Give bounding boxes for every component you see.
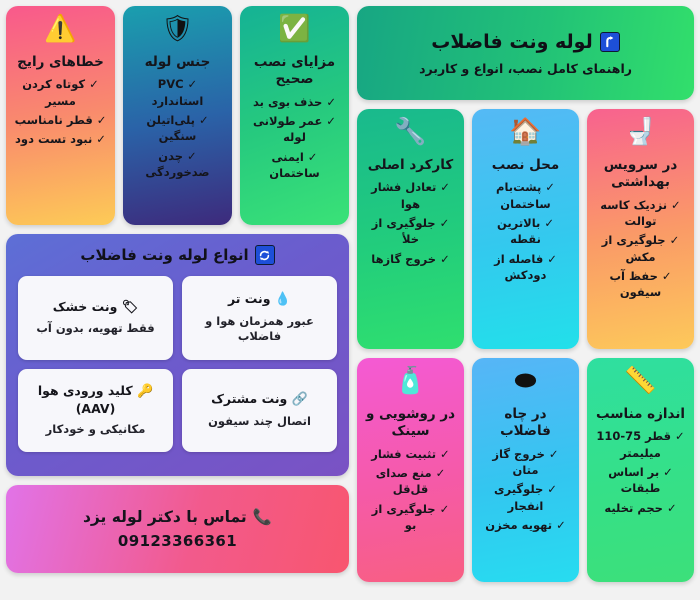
list-item: ✓ حذف بوی بد: [246, 94, 343, 110]
dry-vent-icon: 🏷: [122, 300, 139, 315]
list-item: ✓ پشت‌بام ساختمان: [478, 179, 573, 212]
list-item: ✓ جلوگیری انفجار: [478, 481, 573, 514]
contact-phone[interactable]: 09123366361: [118, 532, 237, 550]
list-item: ✓ جلوگیری از مکش: [593, 232, 688, 265]
list-item: ✓ جلوگیری از بو: [363, 501, 458, 534]
shield-icon: 🛡: [129, 16, 226, 46]
card-common-errors[interactable]: ⚠️ خطاهای رایج ✓ کوتاه کردن مسیر ✓ قطر ن…: [6, 6, 115, 225]
type-card-common-vent[interactable]: 🔗 ونت مشترک اتصال چند سیفون: [182, 369, 337, 453]
water-drop-icon: 💧: [275, 292, 291, 307]
contact-banner[interactable]: 📞 تماس با دکتر لوله یزد 09123366361: [6, 485, 349, 573]
card-list: ✓ تثبیت فشار ✓ منع صدای قل‌قل ✓ جلوگیری …: [363, 446, 458, 534]
card-list: ✓ PVC استاندارد ✓ پلی‌اتیلن سنگین ✓ چدن …: [129, 76, 226, 180]
card-title: کارکرد اصلی: [363, 157, 458, 174]
link-chain-icon: 🔗: [292, 392, 308, 407]
bottle-icon: 🧴: [363, 368, 458, 398]
list-item: ✓ منع صدای قل‌قل: [363, 465, 458, 498]
type-desc: اتصال چند سیفون: [188, 414, 331, 430]
card-title: محل نصب: [478, 157, 573, 174]
vent-types-title: انواع لوله ونت فاضلاب: [18, 245, 337, 265]
wrench-icon: 🔧: [363, 119, 458, 149]
left-column: ✅ مزایای نصب صحیح ✓ حذف بوی بد ✓ عمر طول…: [6, 6, 349, 594]
card-list: ✓ نزدیک کاسه توالت ✓ جلوگیری از مکش ✓ حف…: [593, 197, 688, 301]
card-list: ✓ قطر 75-110 میلیمتر ✓ بر اساس طبقات ✓ ح…: [593, 428, 688, 516]
house-icon: 🏠: [478, 119, 573, 149]
manhole-icon: ⬬: [478, 368, 573, 398]
page-header: لوله ونت فاضلاب راهنمای کامل نصب، انواع …: [357, 6, 694, 100]
list-item: ✓ نبود تست دود: [12, 131, 109, 147]
list-item: ✓ خروج گازها: [363, 251, 458, 267]
card-title: مزایای نصب صحیح: [246, 54, 343, 89]
card-title: در روشویی و سینک: [363, 406, 458, 441]
card-title: در چاه فاضلاب: [478, 406, 573, 441]
toilet-icon: 🚽: [593, 119, 688, 149]
card-list: ✓ پشت‌بام ساختمان ✓ بالاترین نقطه ✓ فاصل…: [478, 179, 573, 283]
card-title: خطاهای رایج: [12, 54, 109, 71]
page-subtitle: راهنمای کامل نصب، انواع و کاربرد: [419, 61, 632, 76]
type-name: 🔗 ونت مشترک: [188, 391, 331, 409]
card-list: ✓ خروج گاز متان ✓ جلوگیری انفجار ✓ تهویه…: [478, 446, 573, 534]
type-name: 🏷 ونت خشک: [24, 299, 167, 317]
list-item: ✓ قطر 75-110 میلیمتر: [593, 428, 688, 461]
type-name-text: ونت تر: [228, 291, 271, 306]
card-in-sewage-well[interactable]: ⬬ در چاه فاضلاب ✓ خروج گاز متان ✓ جلوگیر…: [472, 358, 579, 582]
type-card-dry-vent[interactable]: 🏷 ونت خشک فقط تهویه، بدون آب: [18, 276, 173, 360]
infographic-root: لوله ونت فاضلاب راهنمای کامل نصب، انواع …: [0, 0, 700, 600]
card-list: ✓ حذف بوی بد ✓ عمر طولانی لوله ✓ ایمنی س…: [246, 94, 343, 182]
list-item: ✓ عمر طولانی لوله: [246, 113, 343, 146]
list-item: ✓ PVC استاندارد: [129, 76, 226, 109]
type-desc: مکانیکی و خودکار: [24, 422, 167, 438]
list-item: ✓ کوتاه کردن مسیر: [12, 76, 109, 109]
card-list: ✓ تعادل فشار هوا ✓ جلوگیری از خلأ ✓ خروج…: [363, 179, 458, 267]
warning-triangle-icon: ⚠️: [12, 16, 109, 46]
ruler-icon: 📏: [593, 368, 688, 398]
card-install-location[interactable]: 🏠 محل نصب ✓ پشت‌بام ساختمان ✓ بالاترین ن…: [472, 109, 579, 349]
contact-title: 📞 تماس با دکتر لوله یزد: [83, 508, 272, 526]
right-column: لوله ونت فاضلاب راهنمای کامل نصب، انواع …: [357, 6, 694, 594]
type-card-aav[interactable]: 🔑 کلید ورودی هوا (AAV) مکانیکی و خودکار: [18, 369, 173, 453]
card-title: جنس لوله: [129, 54, 226, 71]
list-item: ✓ قطر نامناسب: [12, 112, 109, 128]
list-item: ✓ حفظ آب سیفون: [593, 268, 688, 301]
list-item: ✓ تعادل فشار هوا: [363, 179, 458, 212]
list-item: ✓ چدن ضدخوردگی: [129, 148, 226, 181]
page-title-text: لوله ونت فاضلاب: [431, 31, 592, 53]
card-proper-size[interactable]: 📏 اندازه مناسب ✓ قطر 75-110 میلیمتر ✓ بر…: [587, 358, 694, 582]
list-item: ✓ حجم تخلیه: [593, 500, 688, 516]
pipe-bend-icon: [600, 32, 620, 52]
vent-types-grid: 💧 ونت تر عبور همزمان هوا و فاضلاب 🏷 ونت …: [18, 276, 337, 452]
card-title: در سرویس بهداشتی: [593, 157, 688, 192]
card-in-bathroom[interactable]: 🚽 در سرویس بهداشتی ✓ نزدیک کاسه توالت ✓ …: [587, 109, 694, 349]
contact-title-text: تماس با دکتر لوله یزد: [83, 508, 247, 526]
type-name-text: ونت مشترک: [211, 391, 287, 406]
list-item: ✓ بالاترین نقطه: [478, 215, 573, 248]
telephone-receiver-icon: 📞: [253, 508, 272, 526]
vent-types-title-text: انواع لوله ونت فاضلاب: [80, 246, 248, 264]
list-item: ✓ نزدیک کاسه توالت: [593, 197, 688, 230]
bottom-card-row: 📏 اندازه مناسب ✓ قطر 75-110 میلیمتر ✓ بر…: [357, 358, 694, 582]
card-in-sink-washbasin[interactable]: 🧴 در روشویی و سینک ✓ تثبیت فشار ✓ منع صد…: [357, 358, 464, 582]
type-card-wet-vent[interactable]: 💧 ونت تر عبور همزمان هوا و فاضلاب: [182, 276, 337, 360]
mid-card-row: 🚽 در سرویس بهداشتی ✓ نزدیک کاسه توالت ✓ …: [357, 109, 694, 349]
list-item: ✓ تهویه مخزن: [478, 517, 573, 533]
key-icon: 🔑: [137, 384, 153, 399]
list-item: ✓ تثبیت فشار: [363, 446, 458, 462]
list-item: ✓ خروج گاز متان: [478, 446, 573, 479]
type-name: 🔑 کلید ورودی هوا (AAV): [24, 383, 167, 417]
list-item: ✓ جلوگیری از خلأ: [363, 215, 458, 248]
vent-types-panel: انواع لوله ونت فاضلاب 💧 ونت تر عبور همزم…: [6, 234, 349, 476]
check-mark-button-icon: ✅: [246, 16, 343, 46]
list-item: ✓ پلی‌اتیلن سنگین: [129, 112, 226, 145]
top-card-row: ✅ مزایای نصب صحیح ✓ حذف بوی بد ✓ عمر طول…: [6, 6, 349, 225]
list-item: ✓ بر اساس طبقات: [593, 464, 688, 497]
recycle-arrows-icon: [255, 245, 275, 265]
type-name: 💧 ونت تر: [188, 291, 331, 309]
type-name-text: کلید ورودی هوا (AAV): [38, 383, 133, 416]
card-pipe-material[interactable]: 🛡 جنس لوله ✓ PVC استاندارد ✓ پلی‌اتیلن س…: [123, 6, 232, 225]
card-list: ✓ کوتاه کردن مسیر ✓ قطر نامناسب ✓ نبود ت…: [12, 76, 109, 147]
page-title: لوله ونت فاضلاب: [431, 31, 619, 53]
card-main-function[interactable]: 🔧 کارکرد اصلی ✓ تعادل فشار هوا ✓ جلوگیری…: [357, 109, 464, 349]
list-item: ✓ فاصله از دودکش: [478, 251, 573, 284]
type-desc: عبور همزمان هوا و فاضلاب: [188, 314, 331, 345]
list-item: ✓ ایمنی ساختمان: [246, 149, 343, 182]
type-desc: فقط تهویه، بدون آب: [24, 321, 167, 337]
card-title: اندازه مناسب: [593, 406, 688, 423]
card-advantages[interactable]: ✅ مزایای نصب صحیح ✓ حذف بوی بد ✓ عمر طول…: [240, 6, 349, 225]
type-name-text: ونت خشک: [53, 299, 118, 314]
